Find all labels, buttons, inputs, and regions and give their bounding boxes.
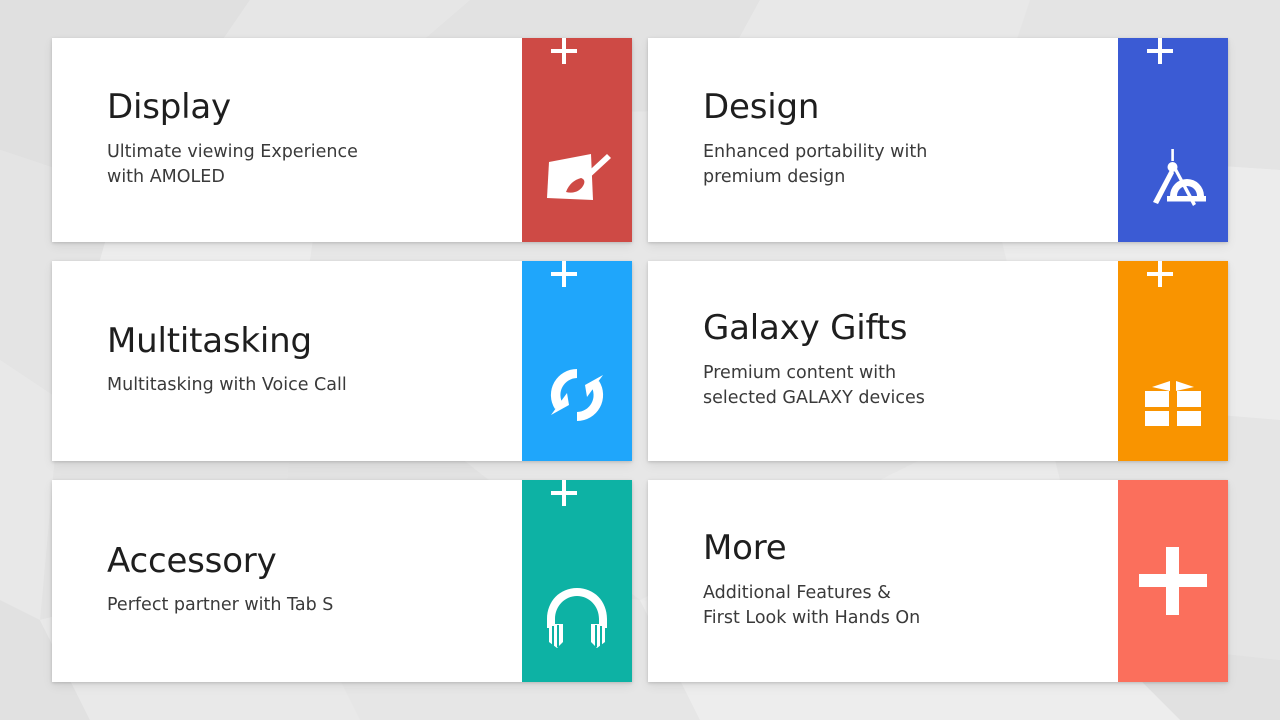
card-design-description: Enhanced portability with premium design xyxy=(703,140,1118,190)
expand-plus-icon[interactable] xyxy=(1147,38,1173,64)
card-galaxy-gifts[interactable]: Galaxy Gifts Premium content with select… xyxy=(648,261,1228,461)
card-design-tile[interactable] xyxy=(1118,38,1228,242)
card-grid: Display Ultimate viewing Experience with… xyxy=(52,38,1228,682)
card-more[interactable]: More Additional Features & First Look wi… xyxy=(648,480,1228,682)
card-accessory-description: Perfect partner with Tab S xyxy=(107,593,522,618)
card-galaxy-gifts-description: Premium content with selected GALAXY dev… xyxy=(703,361,1118,411)
card-accessory-title: Accessory xyxy=(107,544,522,580)
card-design-body: Design Enhanced portability with premium… xyxy=(648,38,1118,242)
expand-plus-icon[interactable] xyxy=(551,38,577,64)
plus-icon[interactable] xyxy=(1139,547,1207,615)
card-galaxy-gifts-title: Galaxy Gifts xyxy=(703,311,1118,347)
feature-grid-page: Display Ultimate viewing Experience with… xyxy=(0,0,1280,720)
card-more-body: More Additional Features & First Look wi… xyxy=(648,480,1118,682)
expand-plus-icon[interactable] xyxy=(551,480,577,506)
refresh-sync-icon xyxy=(541,359,613,431)
card-accessory[interactable]: Accessory Perfect partner with Tab S xyxy=(52,480,632,682)
card-accessory-tile[interactable] xyxy=(522,480,632,682)
card-display-title: Display xyxy=(107,90,522,126)
card-more-title: More xyxy=(703,531,1118,567)
card-display-description: Ultimate viewing Experience with AMOLED xyxy=(107,140,522,190)
expand-plus-icon[interactable] xyxy=(551,261,577,287)
card-multitasking-description: Multitasking with Voice Call xyxy=(107,373,522,398)
card-display-body: Display Ultimate viewing Experience with… xyxy=(52,38,522,242)
card-multitasking-tile[interactable] xyxy=(522,261,632,461)
card-more-description: Additional Features & First Look with Ha… xyxy=(703,581,1118,631)
gift-box-icon xyxy=(1137,359,1209,431)
card-multitasking-title: Multitasking xyxy=(107,324,522,360)
canvas-paintbrush-icon xyxy=(541,140,613,212)
card-display[interactable]: Display Ultimate viewing Experience with… xyxy=(52,38,632,242)
compass-protractor-icon xyxy=(1137,140,1209,212)
headphones-icon xyxy=(541,580,613,652)
card-design[interactable]: Design Enhanced portability with premium… xyxy=(648,38,1228,242)
card-accessory-body: Accessory Perfect partner with Tab S xyxy=(52,480,522,682)
card-galaxy-gifts-tile[interactable] xyxy=(1118,261,1228,461)
card-multitasking-body: Multitasking Multitasking with Voice Cal… xyxy=(52,261,522,461)
expand-plus-icon[interactable] xyxy=(1147,261,1173,287)
card-display-tile[interactable] xyxy=(522,38,632,242)
card-multitasking[interactable]: Multitasking Multitasking with Voice Cal… xyxy=(52,261,632,461)
card-design-title: Design xyxy=(703,90,1118,126)
card-galaxy-gifts-body: Galaxy Gifts Premium content with select… xyxy=(648,261,1118,461)
card-more-tile[interactable] xyxy=(1118,480,1228,682)
